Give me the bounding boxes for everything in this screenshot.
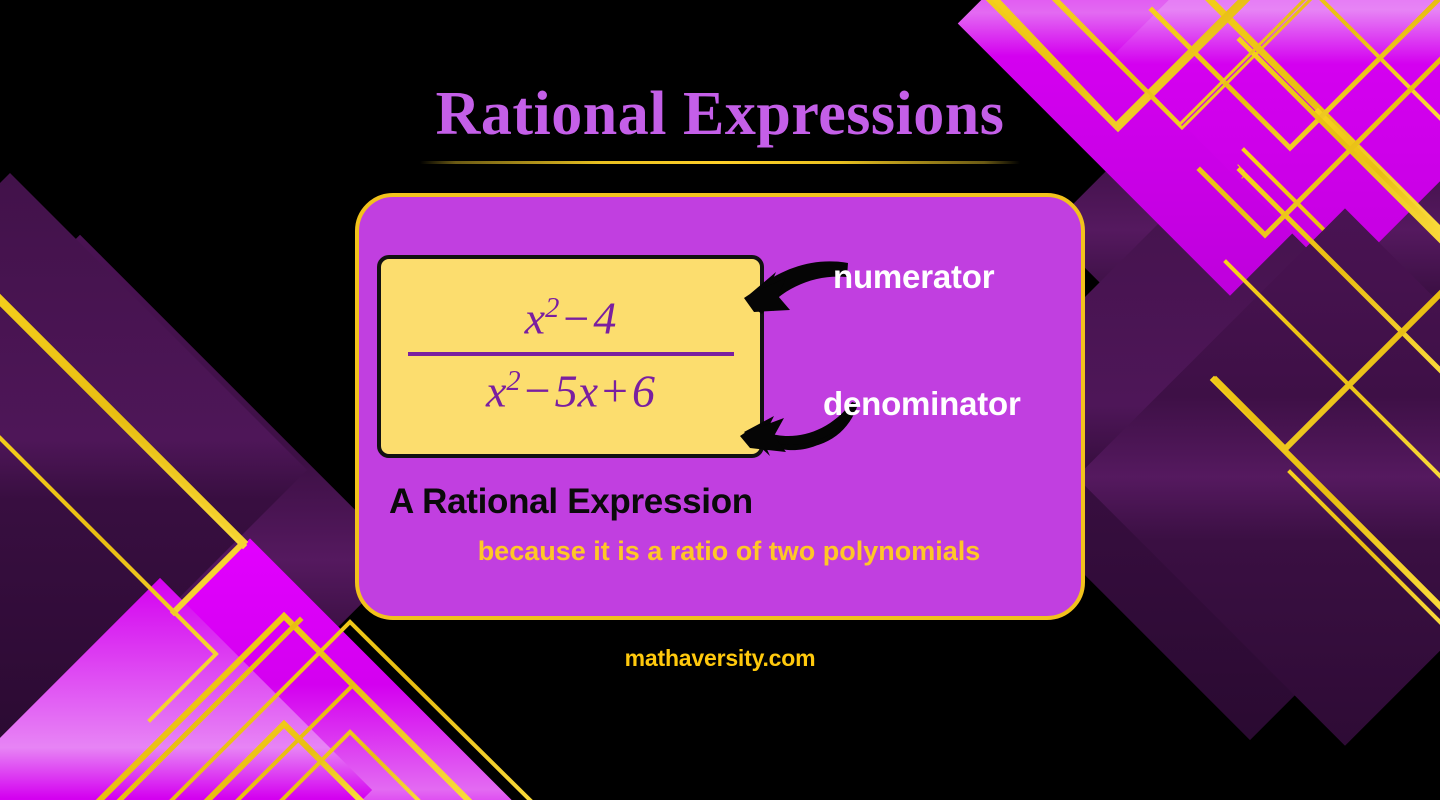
fraction-numerator: x2−4 [408,295,734,351]
denominator-label: denominator [823,385,1021,423]
denominator-exponent: 2 [506,366,520,397]
footer-website: mathaversity.com [0,645,1440,672]
denominator-operator-1: − [521,365,555,416]
page-title: Rational Expressions [0,82,1440,147]
numerator-base: x [525,293,545,344]
numerator-operator: − [559,293,593,344]
numerator-arrow-icon [690,258,850,328]
denominator-base: x [486,365,506,416]
numerator-exponent: 2 [545,293,559,324]
card-subtext: because it is a ratio of two polynomials [439,534,1019,569]
title-block: Rational Expressions [0,82,1440,164]
denominator-term: 5x [555,365,598,416]
poster-canvas: Rational Expressions x2−4 x2−5x+6 A Rati… [0,0,1440,800]
numerator-label: numerator [833,258,994,296]
fraction: x2−4 x2−5x+6 [408,295,734,414]
denominator-operator-2: + [598,365,632,416]
numerator-constant: 4 [593,293,616,344]
title-underline [420,161,1020,164]
card-caption: A Rational Expression [389,482,1059,522]
fraction-denominator: x2−5x+6 [408,356,734,414]
denominator-constant: 6 [632,365,655,416]
